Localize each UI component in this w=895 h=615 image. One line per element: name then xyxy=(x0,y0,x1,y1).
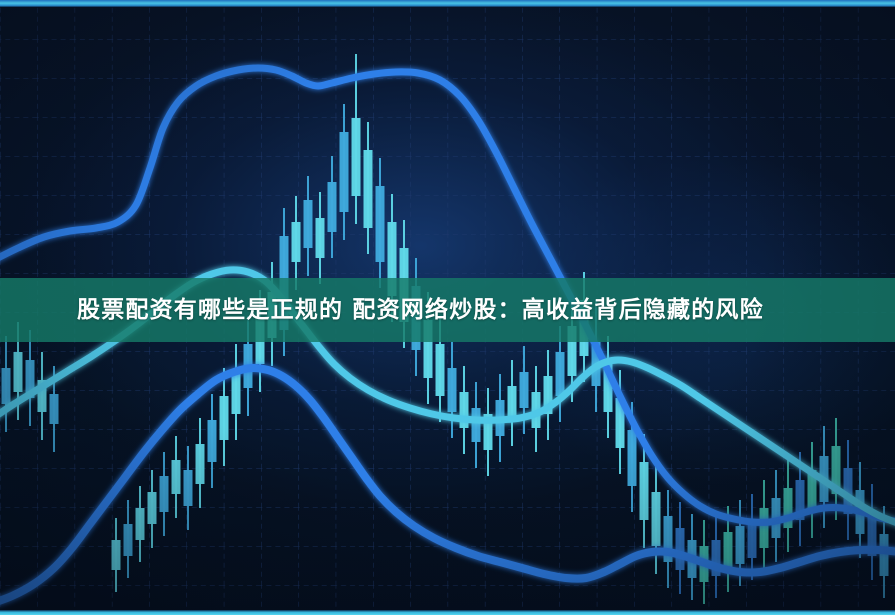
top-accent-rule xyxy=(0,0,895,7)
candle-body xyxy=(208,420,217,462)
candle-body xyxy=(304,200,313,248)
candle-body xyxy=(2,368,11,404)
candle-body xyxy=(316,218,325,258)
candle-body xyxy=(136,508,145,540)
candle-body xyxy=(364,150,373,228)
candle-body xyxy=(736,526,745,564)
candle-body xyxy=(640,462,649,520)
headline-banner: 股票配资有哪些是正规的 配资网络炒股：高收益背后隐藏的风险 xyxy=(0,278,895,342)
candle-body xyxy=(652,492,661,546)
candle-body xyxy=(760,508,769,548)
candle-body xyxy=(220,396,229,440)
candle-body xyxy=(472,408,481,442)
candle-body xyxy=(628,430,637,486)
candle-body xyxy=(124,524,133,556)
candle-body xyxy=(508,386,517,420)
candle-body xyxy=(340,132,349,212)
candle-body xyxy=(676,528,685,570)
candle-body xyxy=(880,534,889,576)
candle-body xyxy=(448,368,457,412)
candle-body xyxy=(376,186,385,262)
candle-body xyxy=(328,182,337,232)
candle-body xyxy=(160,476,169,512)
candle-body xyxy=(112,540,121,570)
candle-body xyxy=(50,394,59,424)
bottom-accent-rule xyxy=(0,610,895,615)
headline-title: 股票配资有哪些是正规的 配资网络炒股：高收益背后隐藏的风险 xyxy=(77,278,764,342)
candle-body xyxy=(352,118,361,196)
candle-body xyxy=(520,372,529,408)
candle-body xyxy=(556,352,565,396)
banner-image: 股票配资有哪些是正规的 配资网络炒股：高收益背后隐藏的风险 xyxy=(0,0,895,615)
candle-body xyxy=(148,492,157,524)
candle-body xyxy=(196,444,205,484)
candle-body xyxy=(292,222,301,262)
candle-body xyxy=(184,470,193,506)
candle-body xyxy=(724,532,733,570)
candle-body xyxy=(436,344,445,396)
candle-body xyxy=(14,352,23,392)
candle-body xyxy=(172,460,181,494)
